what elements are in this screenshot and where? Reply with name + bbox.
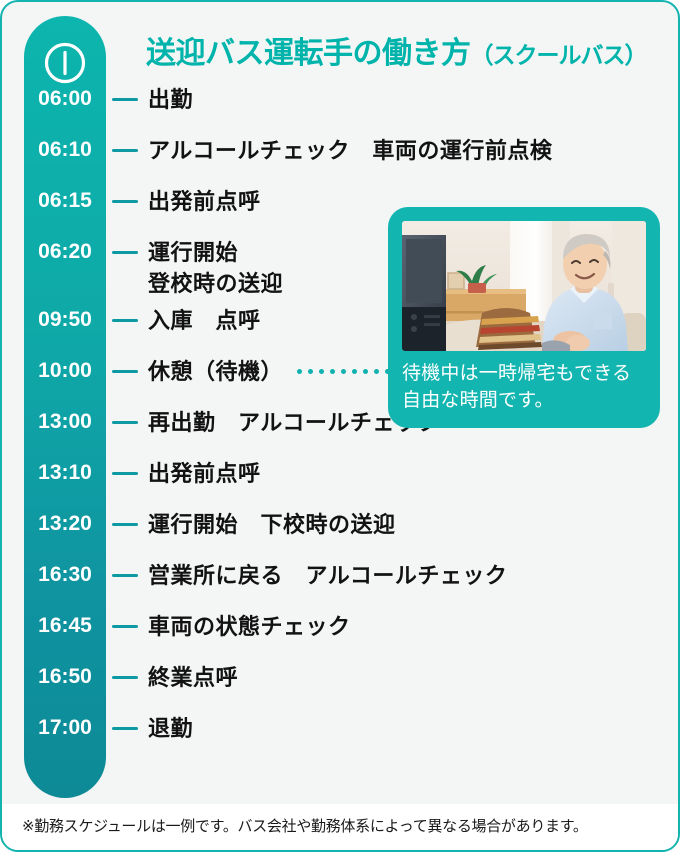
timeline-row: 13:20 運行開始 下校時の送迎: [2, 509, 680, 560]
row-dash-icon: [112, 319, 138, 322]
schedule-infographic-card: 送迎バス運転手の働き方（スクールバス） 06:00 出勤 06:10 アルコール…: [0, 0, 680, 852]
row-dash-icon: [112, 149, 138, 152]
row-label: アルコールチェック 車両の運行前点検: [148, 135, 552, 166]
page-title: 送迎バス運転手の働き方（スクールバス）: [146, 28, 647, 72]
row-label: 運行開始 登校時の送迎: [148, 237, 283, 299]
row-dash-icon: [112, 676, 138, 679]
row-dash-icon: [112, 421, 138, 424]
photo-image: [402, 221, 646, 351]
row-dash-icon: [112, 251, 138, 254]
row-time: 06:20: [24, 237, 106, 267]
row-time: 06:15: [24, 186, 106, 216]
row-dash-icon: [112, 200, 138, 203]
row-time: 13:00: [24, 407, 106, 437]
row-label: 出発前点呼: [148, 186, 261, 217]
row-time: 16:50: [24, 662, 106, 692]
title-sub: （スクールバス）: [471, 42, 647, 68]
timeline-row: 13:10 出発前点呼: [2, 458, 680, 509]
footer-note-bar: ※勤務スケジュールは一例です。バス会社や勤務体系によって異なる場合があります。: [2, 804, 680, 850]
row-label: 出勤: [148, 84, 193, 115]
timeline-row: 06:10 アルコールチェック 車両の運行前点検: [2, 135, 680, 186]
row-dash-icon: [112, 523, 138, 526]
row-dash-icon: [112, 472, 138, 475]
row-time: 10:00: [24, 356, 106, 386]
row-time: 16:30: [24, 560, 106, 590]
row-time: 13:20: [24, 509, 106, 539]
row-dash-icon: [112, 625, 138, 628]
row-time: 09:50: [24, 305, 106, 335]
row-label: 出発前点呼: [148, 458, 261, 489]
row-label: 入庫 点呼: [148, 305, 261, 336]
row-label: 休憩（待機）: [148, 356, 283, 387]
row-dash-icon: [112, 370, 138, 373]
row-dash-icon: [112, 574, 138, 577]
timeline-row: 06:00 出勤: [2, 84, 680, 135]
dotted-connector: [294, 369, 390, 374]
footer-note: ※勤務スケジュールは一例です。バス会社や勤務体系によって異なる場合があります。: [2, 817, 588, 837]
row-dash-icon: [112, 727, 138, 730]
row-dash-icon: [112, 98, 138, 101]
timeline-row: 16:30 営業所に戻る アルコールチェック: [2, 560, 680, 611]
row-label: 車両の状態チェック: [148, 611, 351, 642]
photo-caption: 待機中は一時帰宅もできる 自由な時間です。: [402, 360, 646, 414]
row-time: 06:10: [24, 135, 106, 165]
row-time: 06:00: [24, 84, 106, 114]
row-time: 16:45: [24, 611, 106, 641]
timeline-row: 16:45 車両の状態チェック: [2, 611, 680, 662]
timeline-row: 17:00 退勤: [2, 713, 680, 764]
row-label: 終業点呼: [148, 662, 238, 693]
row-label: 運行開始 下校時の送迎: [148, 509, 396, 540]
timeline-row: 16:50 終業点呼: [2, 662, 680, 713]
clock-icon: [42, 40, 88, 86]
row-time: 13:10: [24, 458, 106, 488]
row-label: 退勤: [148, 713, 193, 744]
row-time: 17:00: [24, 713, 106, 743]
photo-callout-card: 待機中は一時帰宅もできる 自由な時間です。: [388, 207, 660, 428]
title-main: 送迎バス運転手の働き方: [146, 37, 471, 70]
row-label: 営業所に戻る アルコールチェック: [148, 560, 507, 591]
